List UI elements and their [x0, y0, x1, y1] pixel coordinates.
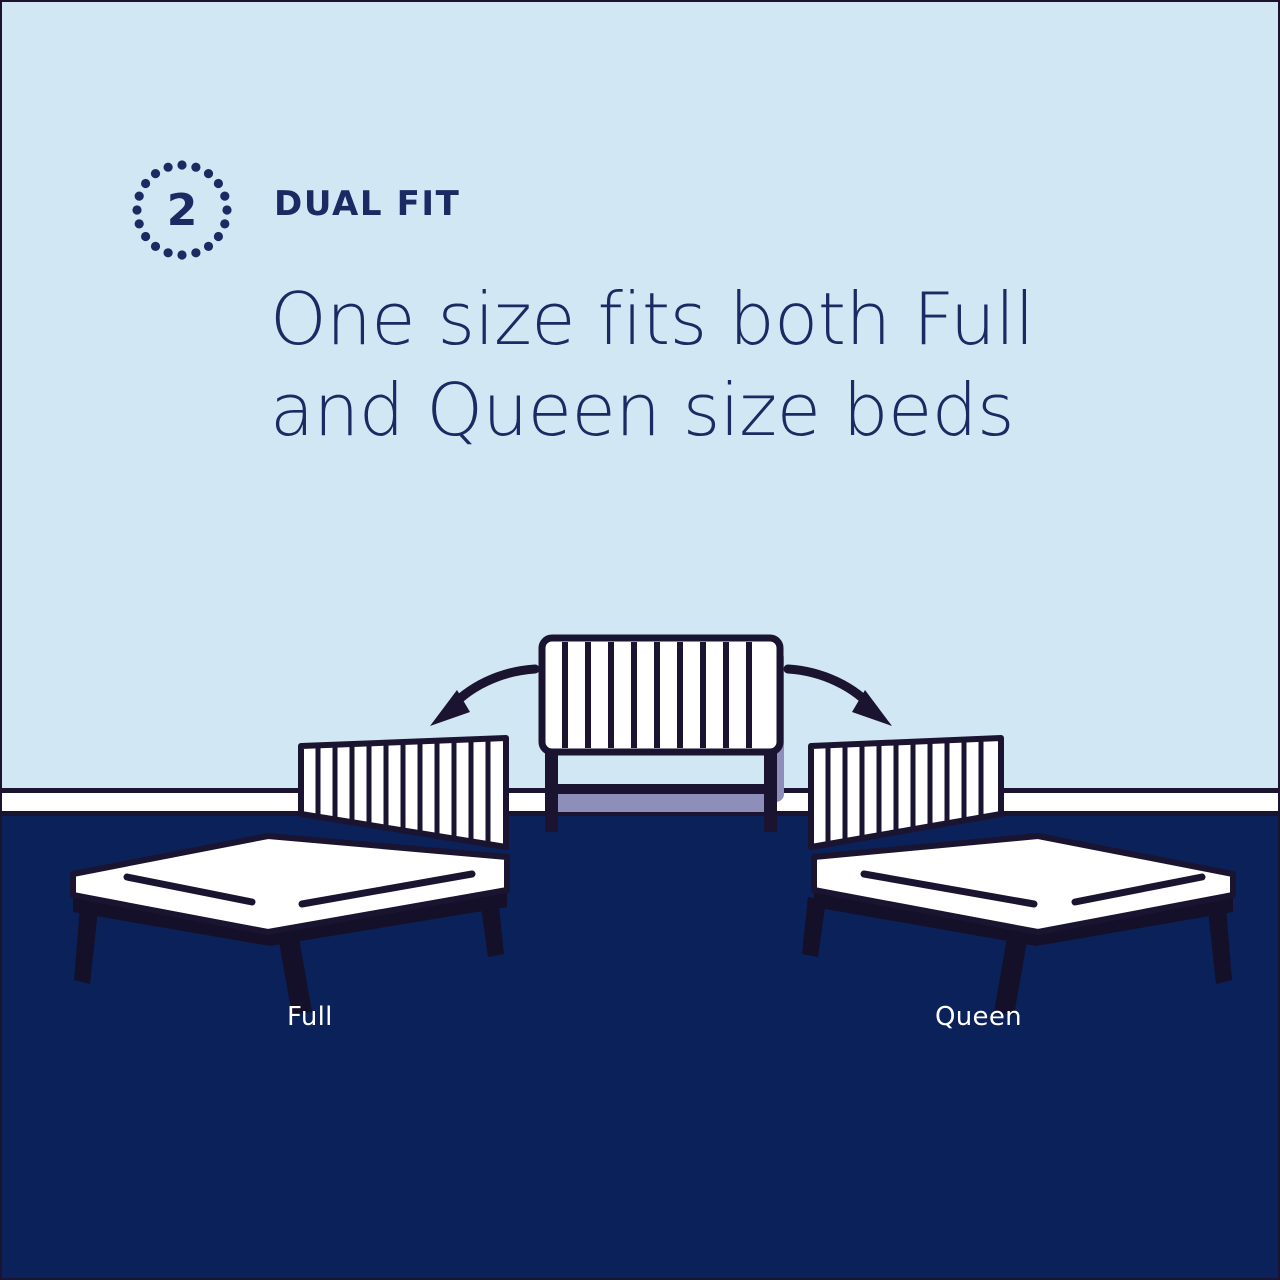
- bed-queen-headboard: [811, 738, 1001, 847]
- bed-queen: [802, 738, 1233, 1015]
- headboard-panel: [542, 638, 780, 752]
- center-headboard: [542, 638, 784, 832]
- illustration-card: 2 DUAL FIT One size fits both Full and Q…: [0, 0, 1280, 1280]
- bed-queen-leg-front-right: [1208, 907, 1232, 984]
- curved-arrow-left-icon: [430, 669, 535, 726]
- bed-full-leg-front-left: [74, 907, 98, 984]
- headboard-rail: [545, 784, 777, 794]
- curved-arrow-right-icon: [788, 669, 892, 726]
- bed-caption-queen: Queen: [935, 1002, 1022, 1032]
- bed-illustration: [2, 2, 1280, 1280]
- bed-full: [73, 738, 507, 1015]
- bed-caption-full: Full: [287, 1002, 333, 1032]
- bed-queen-leg-back-left: [802, 897, 826, 957]
